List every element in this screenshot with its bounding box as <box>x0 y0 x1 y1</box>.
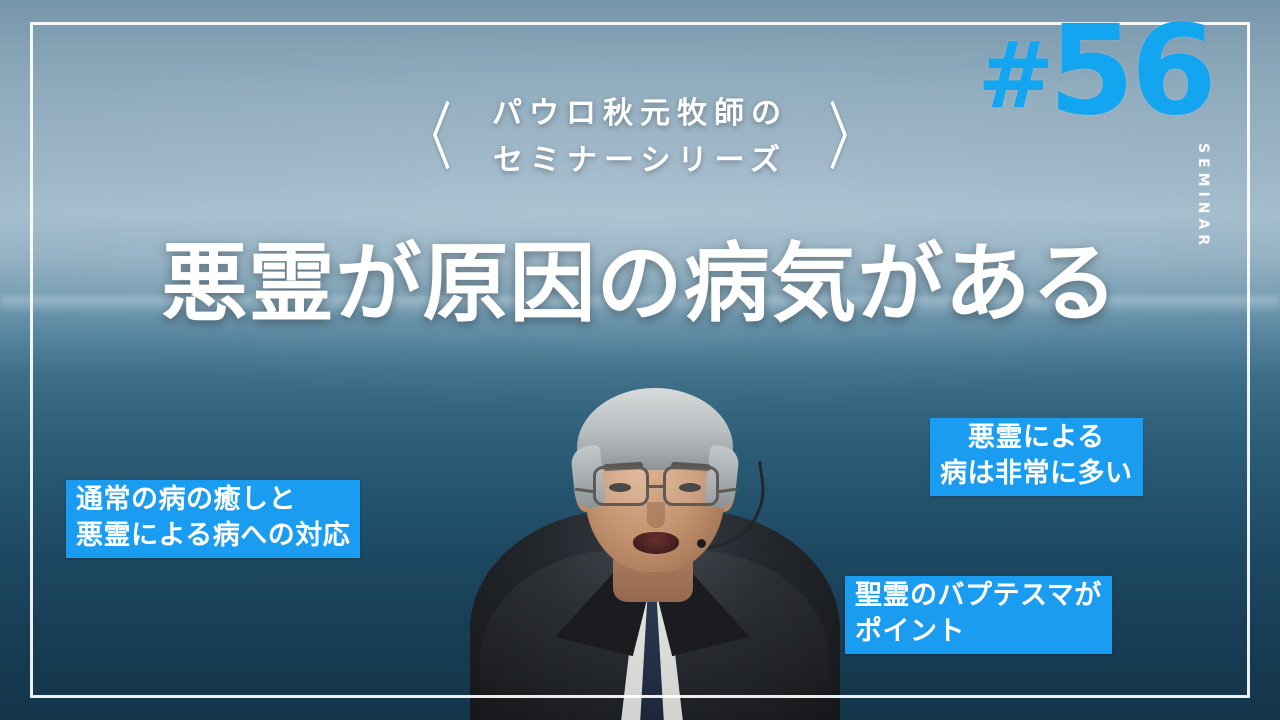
episode-hash: # <box>977 22 1048 129</box>
caption-left-line-2: 悪霊による病への対応 <box>76 518 350 554</box>
caption-chip-right-bottom: 聖霊のバプテスマが ポイント <box>845 576 1112 654</box>
bracket-left-icon: 〈 <box>406 101 452 175</box>
episode-number: #56 <box>977 9 1213 133</box>
caption-right-top-line-2: 病は非常に多い <box>940 456 1133 492</box>
episode-number-value: 56 <box>1048 0 1213 143</box>
series-title-lines: パウロ秋元牧師の セミナーシリーズ <box>492 91 788 184</box>
bracket-right-icon: 〉 <box>828 101 874 175</box>
caption-left-line-1: 通常の病の癒しと <box>76 482 350 518</box>
caption-right-top-line-1: 悪霊による <box>940 420 1133 456</box>
series-title-line-1: パウロ秋元牧師の <box>492 91 788 138</box>
series-title-line-2: セミナーシリーズ <box>492 138 788 185</box>
caption-right-bottom-line-1: 聖霊のバプテスマが <box>855 578 1102 614</box>
caption-chip-right-top: 悪霊による 病は非常に多い <box>930 418 1143 496</box>
caption-chip-left: 通常の病の癒しと 悪霊による病への対応 <box>66 480 360 558</box>
main-headline: 悪霊が原因の病気がある <box>33 237 1247 332</box>
caption-right-bottom-line-2: ポイント <box>855 614 1102 650</box>
seminar-vertical-label: SEMINAR <box>1195 143 1211 250</box>
